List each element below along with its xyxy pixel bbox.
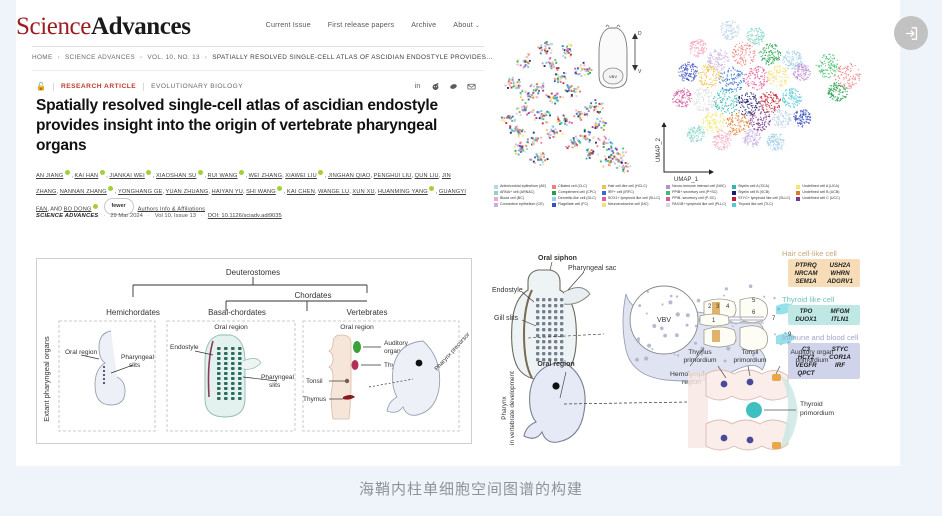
label-pharyngeal-slits-b: Pharyngeal [261, 374, 294, 381]
orcid-icon[interactable] [239, 170, 244, 175]
umap-legend: Antimicrobial epithelium (AE)ARNA+ cell … [492, 184, 892, 207]
label-pharyngeal-sac: Pharyngeal sac [568, 265, 617, 272]
nav-archive[interactable]: Archive [411, 20, 436, 29]
orcid-icon[interactable] [198, 170, 203, 175]
legend-swatch [494, 185, 498, 189]
legend-label: PPIB- secretory cell (P-SC) [672, 196, 716, 201]
page-title: Spatially resolved single-cell atlas of … [36, 96, 466, 156]
panel2-header: Oral region [214, 324, 248, 331]
linkedin-icon[interactable]: in [413, 82, 422, 91]
gene-name: STYC [832, 346, 849, 353]
author-link[interactable]: JIANKAI WEI [109, 173, 144, 179]
gene-name: WHRN [830, 270, 850, 277]
login-arrow-icon [903, 25, 920, 42]
legend-swatch [602, 197, 606, 201]
legend-item: STYC+ lymphoid like cell (SLLC) [732, 196, 790, 201]
breadcrumb-divider [32, 70, 484, 71]
legend-swatch [666, 191, 670, 195]
author-link[interactable]: WANGE LU [318, 189, 349, 195]
info-separator: · [103, 213, 105, 219]
author-link[interactable]: RUI WANG [208, 173, 238, 179]
label-vbv: VBV [657, 317, 671, 324]
legend-column: Ciliated cell (CLC)Complement cell (CPC)… [552, 184, 596, 207]
article-type[interactable]: RESEARCH ARTICLE [61, 83, 136, 90]
legend-item: Thyroid like cell (TLC) [732, 202, 790, 207]
legend-item: Flagellate cell (FC) [552, 202, 596, 207]
volume-issue: Vol 10, Issue 13 [155, 213, 196, 219]
label-pharyngeal-slits: Pharyngeal [121, 354, 154, 361]
tree-root-label: Deuterostomes [226, 268, 280, 277]
author-link[interactable]: QUN LIU [415, 173, 439, 179]
legend-item: Neuro-immune interact cell (NIIC) [666, 184, 726, 189]
breadcrumb-current: SPATIALLY RESOLVED SINGLE-CELL ATLAS OF … [212, 54, 492, 61]
legend-label: Undefined cell B (UCB) [802, 190, 839, 195]
legend-swatch [494, 191, 498, 195]
legend-item: Connective epithelium (CE) [494, 202, 546, 207]
author-link[interactable]: AN JIANG [36, 173, 63, 179]
legend-swatch [666, 203, 670, 207]
author-link[interactable]: KAI HAN [75, 173, 99, 179]
legend-label: Connective epithelium (CE) [500, 202, 544, 207]
spatial-umap-figure: VBV D V UMAP_2 UMAP_1 A [492, 8, 892, 230]
meta-divider [53, 83, 54, 91]
legend-item: Antimicrobial epithelium (AE) [494, 184, 546, 189]
legend-item: Undefined cell A (UCA) [796, 184, 840, 189]
label-tonsil: Tonsil [306, 378, 323, 385]
label-pharyngeal-slits-b2: slits [269, 382, 281, 389]
legend-swatch [666, 197, 670, 201]
svg-text:UMAP_2: UMAP_2 [656, 137, 662, 162]
logo-advances: Advances [91, 13, 191, 40]
legend-column: Undefined cell A (UCA)Undefined cell B (… [796, 184, 840, 207]
label-auditory-primordium-2: primordium [796, 357, 829, 364]
page-root: ScienceAdvances Current Issue First rele… [0, 0, 942, 516]
orcid-icon[interactable] [65, 170, 70, 175]
breadcrumb-separator: › [58, 55, 60, 61]
legend-swatch [602, 185, 606, 189]
legend-swatch [732, 203, 736, 207]
legend-column: Styelin cell A (SCA)Styelin cell B (SCB)… [732, 184, 790, 207]
legend-swatch [552, 197, 556, 201]
reddit-icon[interactable] [431, 82, 440, 91]
breadcrumb-separator: › [205, 55, 207, 61]
orcid-icon[interactable] [277, 186, 282, 191]
label-oral-region-dev: Oral region [537, 361, 574, 368]
gene-name: NRCAM [794, 270, 818, 277]
legend-swatch [666, 185, 670, 189]
label-oral-region: Oral region [65, 349, 98, 356]
phylogeny-figure: Deuterostomes Chordates Hemichordates Ba… [36, 258, 472, 444]
author-link[interactable]: SHI WANG [246, 189, 276, 195]
legend-label: Styelin cell B (SCB) [738, 190, 769, 195]
legend-item: PAX1B+ lymphoid like cell (PLLC) [666, 202, 726, 207]
gene-name: USH2A [830, 262, 852, 269]
legend-label: Ciliated cell (CLC) [558, 184, 587, 189]
label-oral-siphon: Oral siphon [538, 255, 577, 262]
nav-first-release-papers[interactable]: First release papers [328, 20, 395, 29]
gene-name: TPO [800, 308, 813, 315]
main-nav: Current Issue First release papers Archi… [266, 20, 480, 29]
orcid-icon[interactable] [146, 170, 151, 175]
panel3-header: Oral region [340, 324, 374, 331]
legend-label: Dendritic-like cell (DLC) [558, 196, 596, 201]
legend-label: ARNA+ cell (ARNAC) [500, 190, 534, 195]
legend-swatch [796, 185, 800, 189]
endostyle-anatomy-figure: Oral siphon Pharyngeal sac Endostyle Gil… [492, 246, 896, 454]
gene-name: PTPRQ [795, 262, 817, 269]
author-link[interactable]: XUN XU [352, 189, 374, 195]
label-tonsil-primordium: Tonsil [742, 349, 759, 356]
legend-swatch [494, 203, 498, 207]
orcid-icon[interactable] [429, 186, 434, 191]
legend-label: Blood cell (BC) [500, 196, 524, 201]
label-auditory-primordium: Auditory organ [791, 349, 834, 356]
label-thymus-primordium-2: primordium [684, 357, 717, 364]
legend-swatch [796, 197, 800, 201]
author-list: AN JIANG, KAI HAN, JIANKAI WEI, XIAOSHAN… [36, 167, 470, 216]
author-link[interactable]: BO DONG [64, 206, 92, 212]
tree-leaf-basal-chordates: Basal-chordates [208, 308, 266, 317]
legend-swatch [602, 191, 606, 195]
author-link[interactable]: XIAOSHAN SU [156, 173, 196, 179]
side-label-extant-organs: Extant pharyngeal organs [42, 336, 51, 422]
author-link[interactable]: PENGHUI LIU [374, 173, 412, 179]
tree-node-label: Chordates [295, 291, 332, 300]
legend-label: Hair cell-like cell (HCLC) [608, 184, 647, 189]
info-separator: · [148, 213, 150, 219]
legend-label: Antimicrobial epithelium (AE) [500, 184, 546, 189]
legend-label: IRF+ cell (IRFC) [608, 190, 634, 195]
legend-item: Hair cell-like cell (HCLC) [602, 184, 660, 189]
tree-leaf-vertebrates: Vertebrates [347, 308, 388, 317]
legend-item: Ciliated cell (CLC) [552, 184, 596, 189]
gene-box-title: Immune and blood cell [782, 333, 859, 342]
legend-item: PPIB- secretory cell (P-SC) [666, 196, 726, 201]
breadcrumb-volume[interactable]: VOL. 10, NO. 13 [147, 54, 200, 61]
author-and: AND [50, 206, 63, 212]
legend-label: PAX1B+ lymphoid like cell (PLLC) [672, 202, 726, 207]
label-thymus: Thymus [303, 396, 327, 403]
chevron-down-icon: ⌄ [475, 23, 480, 29]
gene-name: ITLN1 [831, 316, 849, 323]
logo-science: Science [16, 13, 91, 40]
legend-swatch [732, 191, 736, 195]
breadcrumb-separator: › [140, 55, 142, 61]
legend-label: SOX1+ lymphoid like cell (SLLC) [608, 196, 660, 201]
label-auditory-organ: Auditory [384, 340, 409, 347]
label-endostyle: Endostyle [170, 344, 199, 351]
info-separator: · [201, 213, 203, 219]
svg-text:D: D [638, 31, 642, 37]
orcid-icon[interactable] [93, 204, 98, 209]
orcid-icon[interactable] [108, 186, 113, 191]
gene-box-title: Hair cell-like cell [782, 249, 837, 258]
legend-label: PPIB+ secretory cell (P+SC) [672, 190, 717, 195]
label-gill-slits: Gill slits [494, 315, 519, 322]
nav-about[interactable]: About⌄ [453, 20, 480, 29]
author-link[interactable]: YUAN ZHUANG [166, 189, 209, 195]
mastodon-icon[interactable] [449, 82, 458, 91]
author-link[interactable]: JINGHAN QIAO [328, 173, 371, 179]
legend-label: Flagellate cell (FC) [558, 202, 588, 207]
authors-info-affiliations-link[interactable]: Authors Info & Affiliations [138, 206, 206, 212]
author-link[interactable]: HAIYAN YU [212, 189, 243, 195]
legend-label: Thyroid like cell (TLC) [738, 202, 773, 207]
legend-column: Neuro-immune interact cell (NIIC)PPIB+ s… [666, 184, 726, 207]
journal-info-line: SCIENCE ADVANCES · 29 Mar 2024 · Vol 10,… [36, 213, 282, 219]
gene-name: DUOX1 [795, 316, 817, 323]
legend-item: Blood cell (BC) [494, 196, 546, 201]
share-icons: in [413, 82, 476, 91]
legend-label: Undefined cell C (UCC) [802, 196, 840, 201]
legend-item: Styelin cell A (SCA) [732, 184, 790, 189]
author-link[interactable]: XIAWEI LIU [285, 173, 317, 179]
header-divider [32, 46, 484, 47]
orcid-icon[interactable] [318, 170, 323, 175]
legend-swatch [494, 197, 498, 201]
gene-name: IRF [835, 362, 845, 369]
legend-item: SOX1+ lymphoid like cell (SLLC) [602, 196, 660, 201]
legend-swatch [732, 185, 736, 189]
legend-item: Styelin cell B (SCB) [732, 190, 790, 195]
legend-swatch [732, 197, 736, 201]
breadcrumb-journal[interactable]: SCIENCE ADVANCES [65, 54, 135, 61]
legend-swatch [796, 191, 800, 195]
image-caption: 海鞘内柱单细胞空间图谱的构建 [0, 478, 942, 499]
svg-text:VBV: VBV [609, 74, 617, 79]
legend-swatch [552, 203, 556, 207]
article-subject[interactable]: EVOLUTIONARY BIOLOGY [151, 83, 243, 90]
nav-current-issue[interactable]: Current Issue [266, 20, 311, 29]
breadcrumb: HOME › SCIENCE ADVANCES › VOL. 10, NO. 1… [32, 54, 493, 61]
author-link[interactable]: HUANMING YANG [378, 189, 428, 195]
journal-name: SCIENCE ADVANCES [36, 213, 98, 219]
article-meta-row: 🔓 RESEARCH ARTICLE EVOLUTIONARY BIOLOGY … [36, 82, 476, 91]
legend-label: Neuroendocrine cell (NC) [608, 202, 649, 207]
legend-item: Undefined cell C (UCC) [796, 196, 840, 201]
author-link[interactable]: KAI CHEN [287, 189, 315, 195]
lock-open-icon: 🔓 [36, 82, 46, 91]
label-pharyngeal-slits-2: slits [129, 362, 141, 369]
svg-text:UMAP_1: UMAP_1 [674, 177, 699, 183]
legend-item: Dendritic-like cell (DLC) [552, 196, 596, 201]
legend-swatch [552, 191, 556, 195]
legend-item: Undefined cell B (UCB) [796, 190, 840, 195]
label-tonsil-primordium-2: primordium [734, 357, 767, 364]
gene-name: ADGRV1 [826, 278, 853, 285]
label-thyroid-primordium: Thyroid [800, 401, 823, 408]
gene-name: SEM1A [795, 278, 817, 285]
legend-label: Neuro-immune interact cell (NIIC) [672, 184, 726, 189]
gene-name: MFGM [831, 308, 851, 315]
login-button[interactable] [894, 16, 928, 50]
author-link[interactable]: NANNAN ZHANG [60, 189, 107, 195]
legend-label: Undefined cell A (UCA) [802, 184, 839, 189]
label-thymus-primordium: Thymus [688, 349, 712, 356]
legend-item: Neuroendocrine cell (NC) [602, 202, 660, 207]
doi-link[interactable]: DOI: 10.1126/sciadv.adi9035 [208, 213, 282, 219]
gene-name: QPCT [797, 370, 815, 377]
meta-divider [143, 83, 144, 91]
legend-item: ARNA+ cell (ARNAC) [494, 190, 546, 195]
legend-column: Hair cell-like cell (HCLC)IRF+ cell (IRF… [602, 184, 660, 207]
author-link[interactable]: WEI ZHANG [249, 173, 283, 179]
legend-label: Complement cell (CPC) [558, 190, 596, 195]
gene-box-title: Thyroid like cell [782, 295, 835, 304]
side-label-pharynx-dev: Pharynx [501, 395, 508, 419]
legend-label: STYC+ lymphoid like cell (SLLC) [738, 196, 790, 201]
legend-label: Styelin cell A (SCA) [738, 184, 769, 189]
label-endostyle-br: Endostyle [492, 287, 523, 294]
label-thyroid-primordium-2: primordium [800, 410, 834, 417]
tree-leaf-hemichordates: Hemichordates [106, 308, 160, 317]
breadcrumb-home[interactable]: HOME [32, 54, 53, 61]
publication-date: 29 Mar 2024 [110, 213, 143, 219]
legend-column: Antimicrobial epithelium (AE)ARNA+ cell … [494, 184, 546, 207]
legend-item: PPIB+ secretory cell (P+SC) [666, 190, 726, 195]
nav-about-label: About [453, 20, 473, 29]
legend-swatch [552, 185, 556, 189]
side-label-pharynx-dev-2: in vertebrate development [509, 371, 516, 445]
legend-item: IRF+ cell (IRFC) [602, 190, 660, 195]
legend-item: Complement cell (CPC) [552, 190, 596, 195]
author-link[interactable]: YONGHANG GE [118, 189, 162, 195]
legend-swatch [602, 203, 606, 207]
email-icon[interactable] [467, 82, 476, 91]
orcid-icon[interactable] [100, 170, 105, 175]
